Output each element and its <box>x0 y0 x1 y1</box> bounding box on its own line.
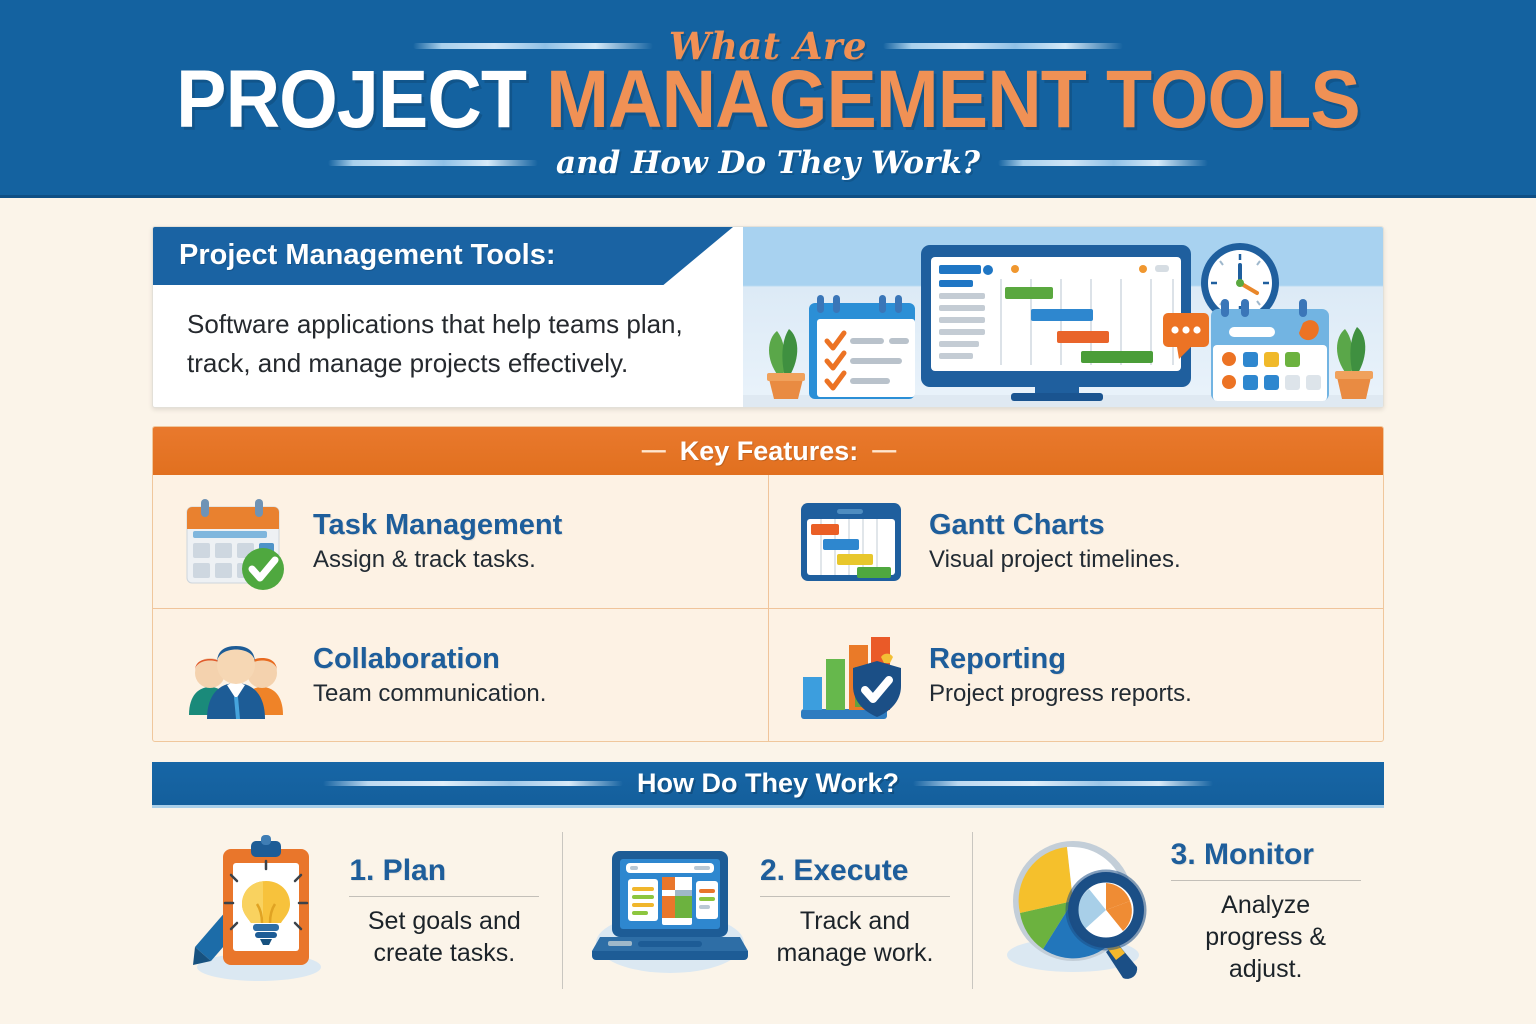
key-features-card: — Key Features: — <box>152 426 1384 742</box>
step-divider-rule <box>760 896 950 897</box>
definition-body: Software applications that help teams pl… <box>187 305 747 383</box>
plant-right-icon <box>1335 327 1373 399</box>
key-features-dash-left: — <box>642 437 666 465</box>
step-desc: Set goals and create tasks. <box>349 905 539 969</box>
step-desc: Analyze progress & adjust. <box>1171 889 1361 985</box>
header-subtitle-line-right <box>998 160 1208 166</box>
feature-text-reporting: Reporting Project progress reports. <box>929 642 1367 710</box>
header-banner: What Are PROJECT MANAGEMENT TOOLS and Ho… <box>0 0 1536 198</box>
feature-item-task-management[interactable]: Task Management Assign & track tasks. <box>153 475 769 609</box>
header-subtitle-line-left <box>328 160 538 166</box>
header-subtitle-row: and How Do They Work? <box>0 145 1536 181</box>
page-title-part1: PROJECT <box>176 54 526 145</box>
workspace-illustration <box>743 227 1383 408</box>
step-text-execute: 2. Execute Track and manage work. <box>760 852 950 969</box>
how-it-works-band: How Do They Work? <box>152 762 1384 808</box>
feature-item-reporting[interactable]: Reporting Project progress reports. <box>769 609 1384 742</box>
feature-desc: Assign & track tasks. <box>313 544 750 576</box>
step-text-plan: 1. Plan Set goals and create tasks. <box>349 852 539 969</box>
step-item-plan[interactable]: 1. Plan Set goals and create tasks. <box>152 818 563 1003</box>
feature-desc: Project progress reports. <box>929 678 1367 710</box>
page-title-part2: MANAGEMENT TOOLS <box>546 54 1360 145</box>
clipboard-lightbulb-icon <box>175 831 343 991</box>
feature-text-collaboration: Collaboration Team communication. <box>313 642 750 710</box>
gantt-chart-icon <box>793 493 911 591</box>
page-title: PROJECT MANAGEMENT TOOLS <box>61 58 1474 142</box>
definition-card: Project Management Tools: Software appli… <box>152 226 1384 408</box>
feature-title: Task Management <box>313 508 750 542</box>
monitor-gantt-icon <box>921 245 1191 401</box>
checklist-board-icon <box>809 295 915 399</box>
key-features-grid: Task Management Assign & track tasks. <box>153 475 1384 742</box>
feature-text-gantt-charts: Gantt Charts Visual project timelines. <box>929 508 1367 576</box>
how-it-works-title: How Do They Work? <box>637 768 899 799</box>
feature-desc: Visual project timelines. <box>929 544 1367 576</box>
team-people-icon <box>177 627 295 725</box>
step-text-monitor: 3. Monitor Analyze progress & adjust. <box>1171 836 1361 985</box>
step-desc: Track and manage work. <box>760 905 950 969</box>
bar-chart-shield-icon <box>793 627 911 725</box>
header-subtitle: and How Do They Work? <box>556 145 980 181</box>
key-features-band: — Key Features: — <box>153 427 1384 475</box>
step-item-execute[interactable]: 2. Execute Track and manage work. <box>563 818 974 1003</box>
feature-item-gantt-charts[interactable]: Gantt Charts Visual project timelines. <box>769 475 1384 609</box>
feature-title: Reporting <box>929 642 1367 676</box>
how-it-works-line-left <box>323 781 623 786</box>
step-divider-rule <box>349 896 539 897</box>
header-decoration-line-right <box>883 43 1123 49</box>
step-divider-rule <box>1171 880 1361 881</box>
calendar-icon <box>1211 299 1329 401</box>
feature-item-collaboration[interactable]: Collaboration Team communication. <box>153 609 769 742</box>
feature-title: Gantt Charts <box>929 508 1367 542</box>
key-features-title: Key Features: <box>680 436 859 467</box>
infographic-page: What Are PROJECT MANAGEMENT TOOLS and Ho… <box>0 0 1536 1024</box>
feature-desc: Team communication. <box>313 678 750 710</box>
definition-heading: Project Management Tools: <box>179 239 556 272</box>
step-title: 2. Execute <box>760 852 950 890</box>
calendar-check-icon <box>177 493 295 591</box>
plant-left-icon <box>767 329 805 399</box>
feature-text-task-management: Task Management Assign & track tasks. <box>313 508 750 576</box>
step-title: 1. Plan <box>349 852 539 890</box>
header-decoration-line-left <box>413 43 653 49</box>
pie-chart-magnifier-icon <box>997 831 1165 991</box>
feature-title: Collaboration <box>313 642 750 676</box>
step-title: 3. Monitor <box>1171 836 1361 874</box>
key-features-dash-right: — <box>872 437 896 465</box>
how-it-works-steps: 1. Plan Set goals and create tasks. <box>152 818 1384 1003</box>
laptop-kanban-icon <box>586 831 754 991</box>
step-item-monitor[interactable]: 3. Monitor Analyze progress & adjust. <box>973 818 1384 1003</box>
how-it-works-line-right <box>913 781 1213 786</box>
